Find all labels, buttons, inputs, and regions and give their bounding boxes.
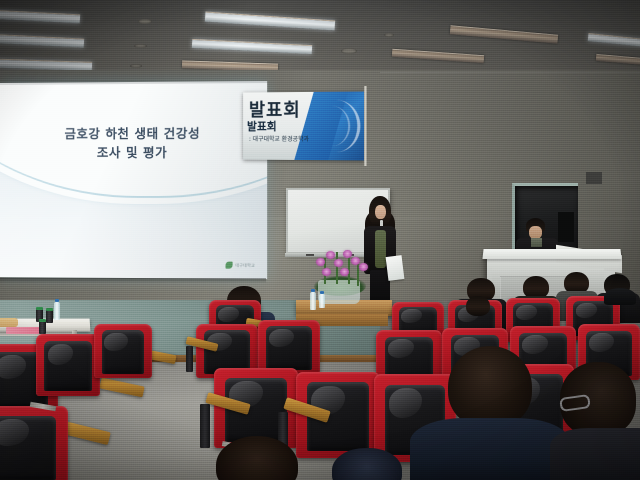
auditorium-presentation-photo: 금호강 하천 생태 건강성 조사 및 평가 대구대학교 발표회 발표회 : 대구… xyxy=(0,0,640,480)
baseball-cap-icon xyxy=(604,288,636,305)
audience-member xyxy=(556,362,640,480)
screen-bottom-shadow xyxy=(0,278,266,283)
event-banner: 발표회 발표회 : 대구대학교 환경공학과 xyxy=(243,92,364,161)
beverage-can xyxy=(39,321,46,334)
operator-shirt xyxy=(531,238,542,247)
ceiling-vent xyxy=(384,33,394,37)
fluorescent-light-fixture xyxy=(0,10,80,24)
purple-orchid-bloom xyxy=(351,257,360,265)
projected-slide: 금호강 하천 생태 건강성 조사 및 평가 대구대학교 xyxy=(0,83,267,279)
presenter-face xyxy=(375,205,386,219)
ceiling-vent xyxy=(134,44,147,48)
ceiling-vent xyxy=(341,48,357,54)
audience-torso xyxy=(410,418,570,480)
bottle-cap xyxy=(311,289,315,292)
orchid-stem xyxy=(336,252,338,284)
audience-torso xyxy=(550,428,640,480)
auditorium-seat[interactable] xyxy=(36,334,100,396)
auditorium-seat[interactable] xyxy=(0,406,68,480)
presenter-handout-papers xyxy=(386,255,405,281)
ceiling-vent xyxy=(130,64,142,68)
wall-seam xyxy=(380,72,640,73)
projection-screen: 금호강 하천 생태 건강성 조사 및 평가 대구대학교 xyxy=(0,81,267,279)
purple-orchid-bloom xyxy=(340,268,349,276)
armrest-post xyxy=(186,346,193,372)
audience-member xyxy=(458,296,500,332)
slide-title: 금호강 하천 생태 건강성 조사 및 평가 xyxy=(0,123,267,162)
presenter xyxy=(360,196,400,310)
audience-head xyxy=(216,436,298,480)
bottle-cap xyxy=(320,291,324,294)
whiteboard-marker xyxy=(306,254,314,256)
banner-organization-line: : 대구대학교 환경공학과 xyxy=(249,134,309,143)
purple-orchid-bloom xyxy=(359,263,368,271)
can-top xyxy=(39,319,46,322)
purple-orchid-bloom xyxy=(326,251,335,259)
bottle-cap xyxy=(55,299,59,302)
wall-vent xyxy=(586,172,602,184)
fluorescent-light-fixture xyxy=(450,25,558,43)
slide-institution-logo: 대구대학교 xyxy=(225,262,255,269)
audience-member-with-cap xyxy=(600,288,640,324)
auditorium-seat[interactable] xyxy=(94,324,152,378)
audience-head xyxy=(448,346,532,428)
slide-title-line-1: 금호강 하천 생태 건강성 xyxy=(0,123,267,143)
fluorescent-light-fixture xyxy=(0,33,84,47)
audience-member xyxy=(198,436,316,480)
audience-member xyxy=(424,346,556,480)
slide-title-line-2: 조사 및 평가 xyxy=(0,143,267,163)
fluorescent-light-fixture xyxy=(192,39,312,54)
banner-support-pole xyxy=(364,86,367,166)
presenter-top xyxy=(375,230,386,268)
snack-tray xyxy=(0,318,18,327)
purple-orchid-bloom xyxy=(334,259,343,267)
ceiling-vent xyxy=(138,19,152,24)
water-bottle xyxy=(319,294,325,308)
water-bottle xyxy=(54,302,60,320)
purple-orchid-bloom xyxy=(322,268,331,276)
audience-head xyxy=(466,296,490,316)
leaf-icon xyxy=(225,262,232,269)
alcove-shadow xyxy=(558,212,574,242)
fluorescent-light-fixture xyxy=(596,54,640,65)
banner-subheadline: 발표회 xyxy=(247,118,277,134)
audience-head xyxy=(332,448,402,480)
fluorescent-light-fixture xyxy=(0,58,92,71)
beverage-can xyxy=(46,310,53,323)
water-bottle xyxy=(310,292,316,310)
auditorium-seat[interactable] xyxy=(258,320,320,374)
fluorescent-light-fixture xyxy=(205,11,335,30)
fluorescent-light-fixture xyxy=(588,33,640,47)
fluorescent-light-fixture xyxy=(392,49,484,63)
can-top xyxy=(46,308,53,311)
purple-orchid-bloom xyxy=(316,258,325,266)
purple-orchid-bloom xyxy=(343,250,352,258)
audience-member xyxy=(320,448,416,480)
lectern-desktop xyxy=(482,249,621,259)
slide-logo-text: 대구대학교 xyxy=(235,262,255,268)
can-top xyxy=(36,307,43,310)
ceiling xyxy=(0,0,640,78)
